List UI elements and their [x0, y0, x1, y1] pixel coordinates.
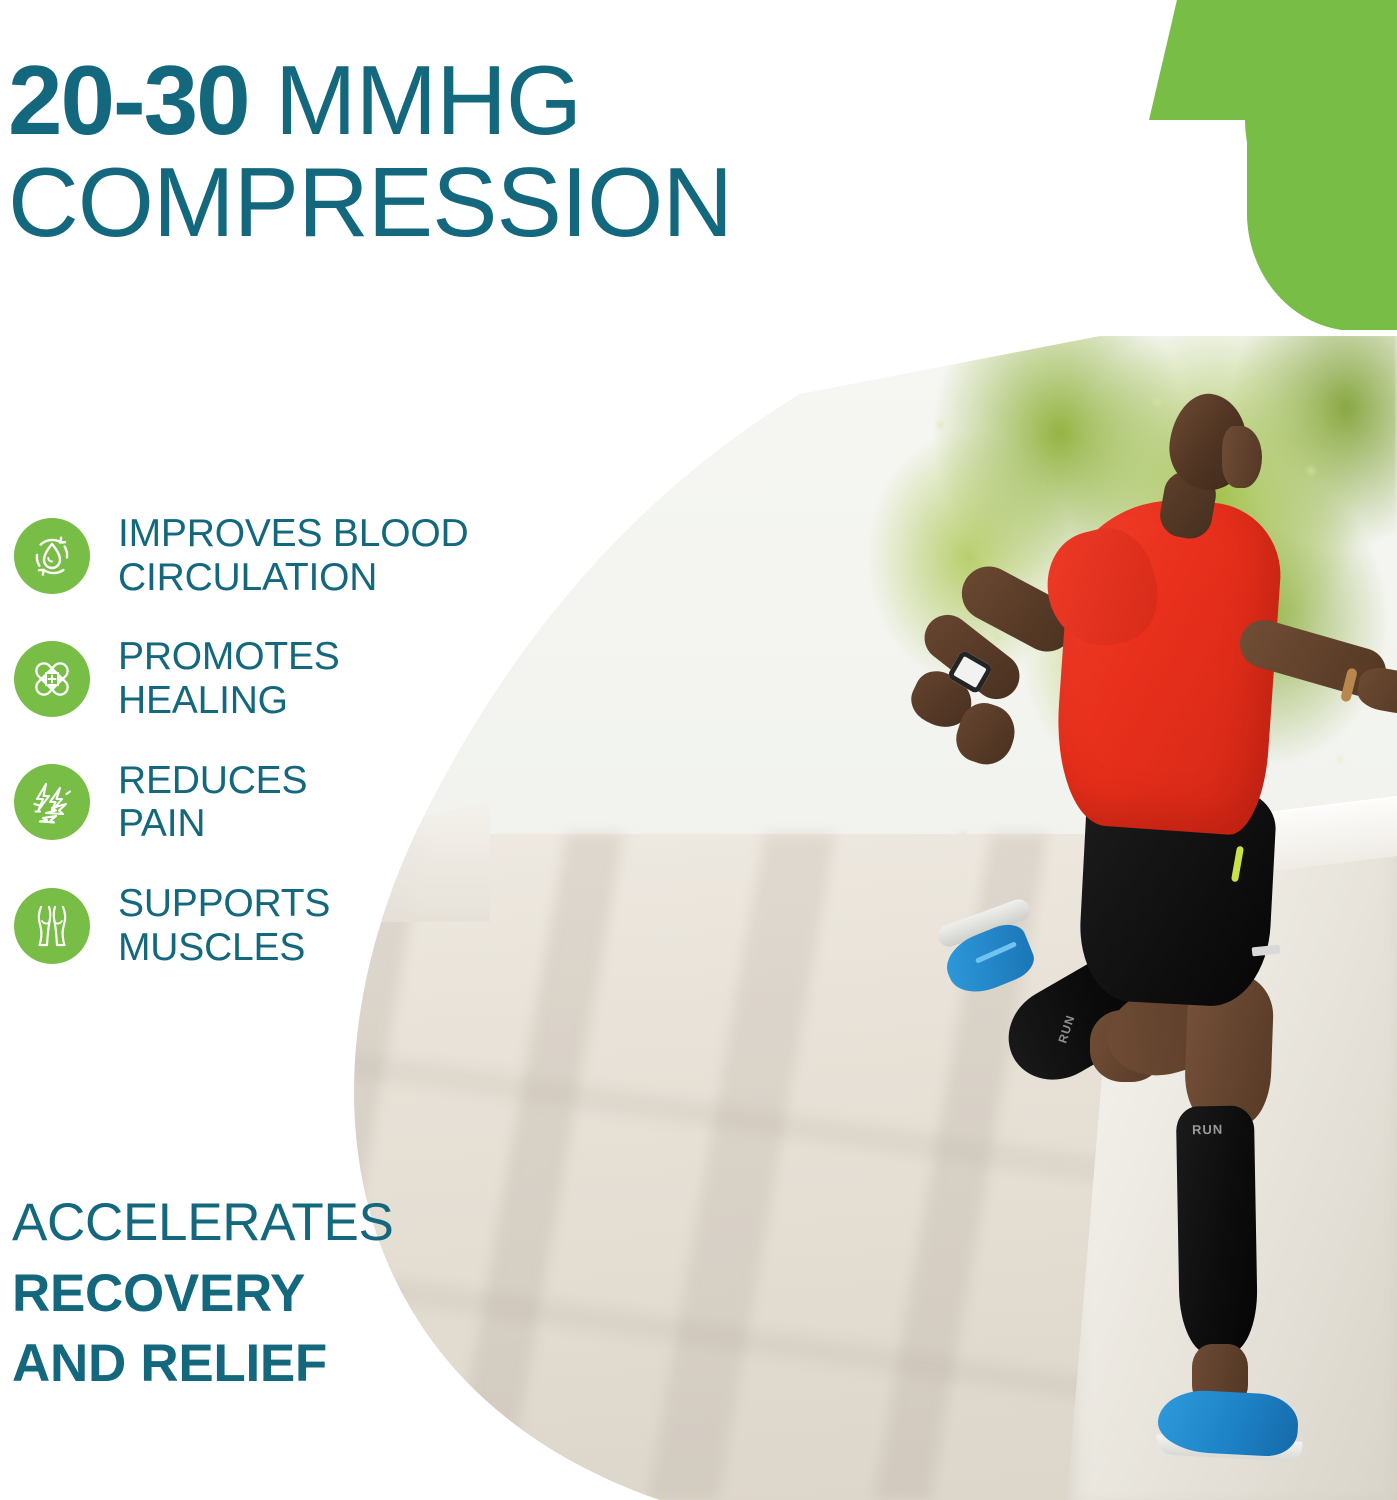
headline-unit: MMHG — [249, 45, 582, 155]
athlete-compression-sleeve-standing-leg — [1176, 1105, 1258, 1354]
page-title: 20-30 MMHG COMPRESSION — [8, 52, 1008, 250]
pain-lightning-icon — [14, 764, 90, 840]
list-item-label: REDUCES PAIN — [118, 759, 307, 846]
list-item-label: IMPROVES BLOOD CIRCULATION — [118, 512, 468, 599]
product-infographic: RUN RUN — [0, 0, 1397, 1500]
headline-line-1: 20-30 MMHG — [8, 52, 1008, 148]
headline-pressure-value: 20-30 — [8, 45, 249, 155]
headline-line-2: COMPRESSION — [8, 154, 1008, 250]
tagline: ACCELERATES RECOVERY AND RELIEF — [12, 1192, 632, 1396]
list-item-label: SUPPORTS MUSCLES — [118, 882, 330, 969]
list-item: REDUCES PAIN — [14, 759, 574, 846]
athlete-shorts-tag — [1252, 945, 1281, 957]
tagline-line-3: AND RELIEF — [12, 1333, 632, 1396]
list-item: IMPROVES BLOOD CIRCULATION — [14, 512, 574, 599]
tagline-line-2: RECOVERY — [12, 1263, 632, 1326]
list-item: PROMOTES HEALING — [14, 635, 574, 722]
athlete-face — [1222, 426, 1262, 488]
list-item: SUPPORTS MUSCLES — [14, 882, 574, 969]
blood-circulation-icon — [14, 518, 90, 594]
list-item-label: PROMOTES HEALING — [118, 635, 340, 722]
tagline-line-1: ACCELERATES — [12, 1192, 632, 1255]
bandage-healing-icon — [14, 641, 90, 717]
sleeve-brand-label-lower: RUN — [1192, 1122, 1223, 1138]
legs-muscles-icon — [14, 888, 90, 964]
headline-compression-word: COMPRESSION — [8, 147, 732, 257]
benefits-list: IMPROVES BLOOD CIRCULATION — [14, 512, 574, 1005]
